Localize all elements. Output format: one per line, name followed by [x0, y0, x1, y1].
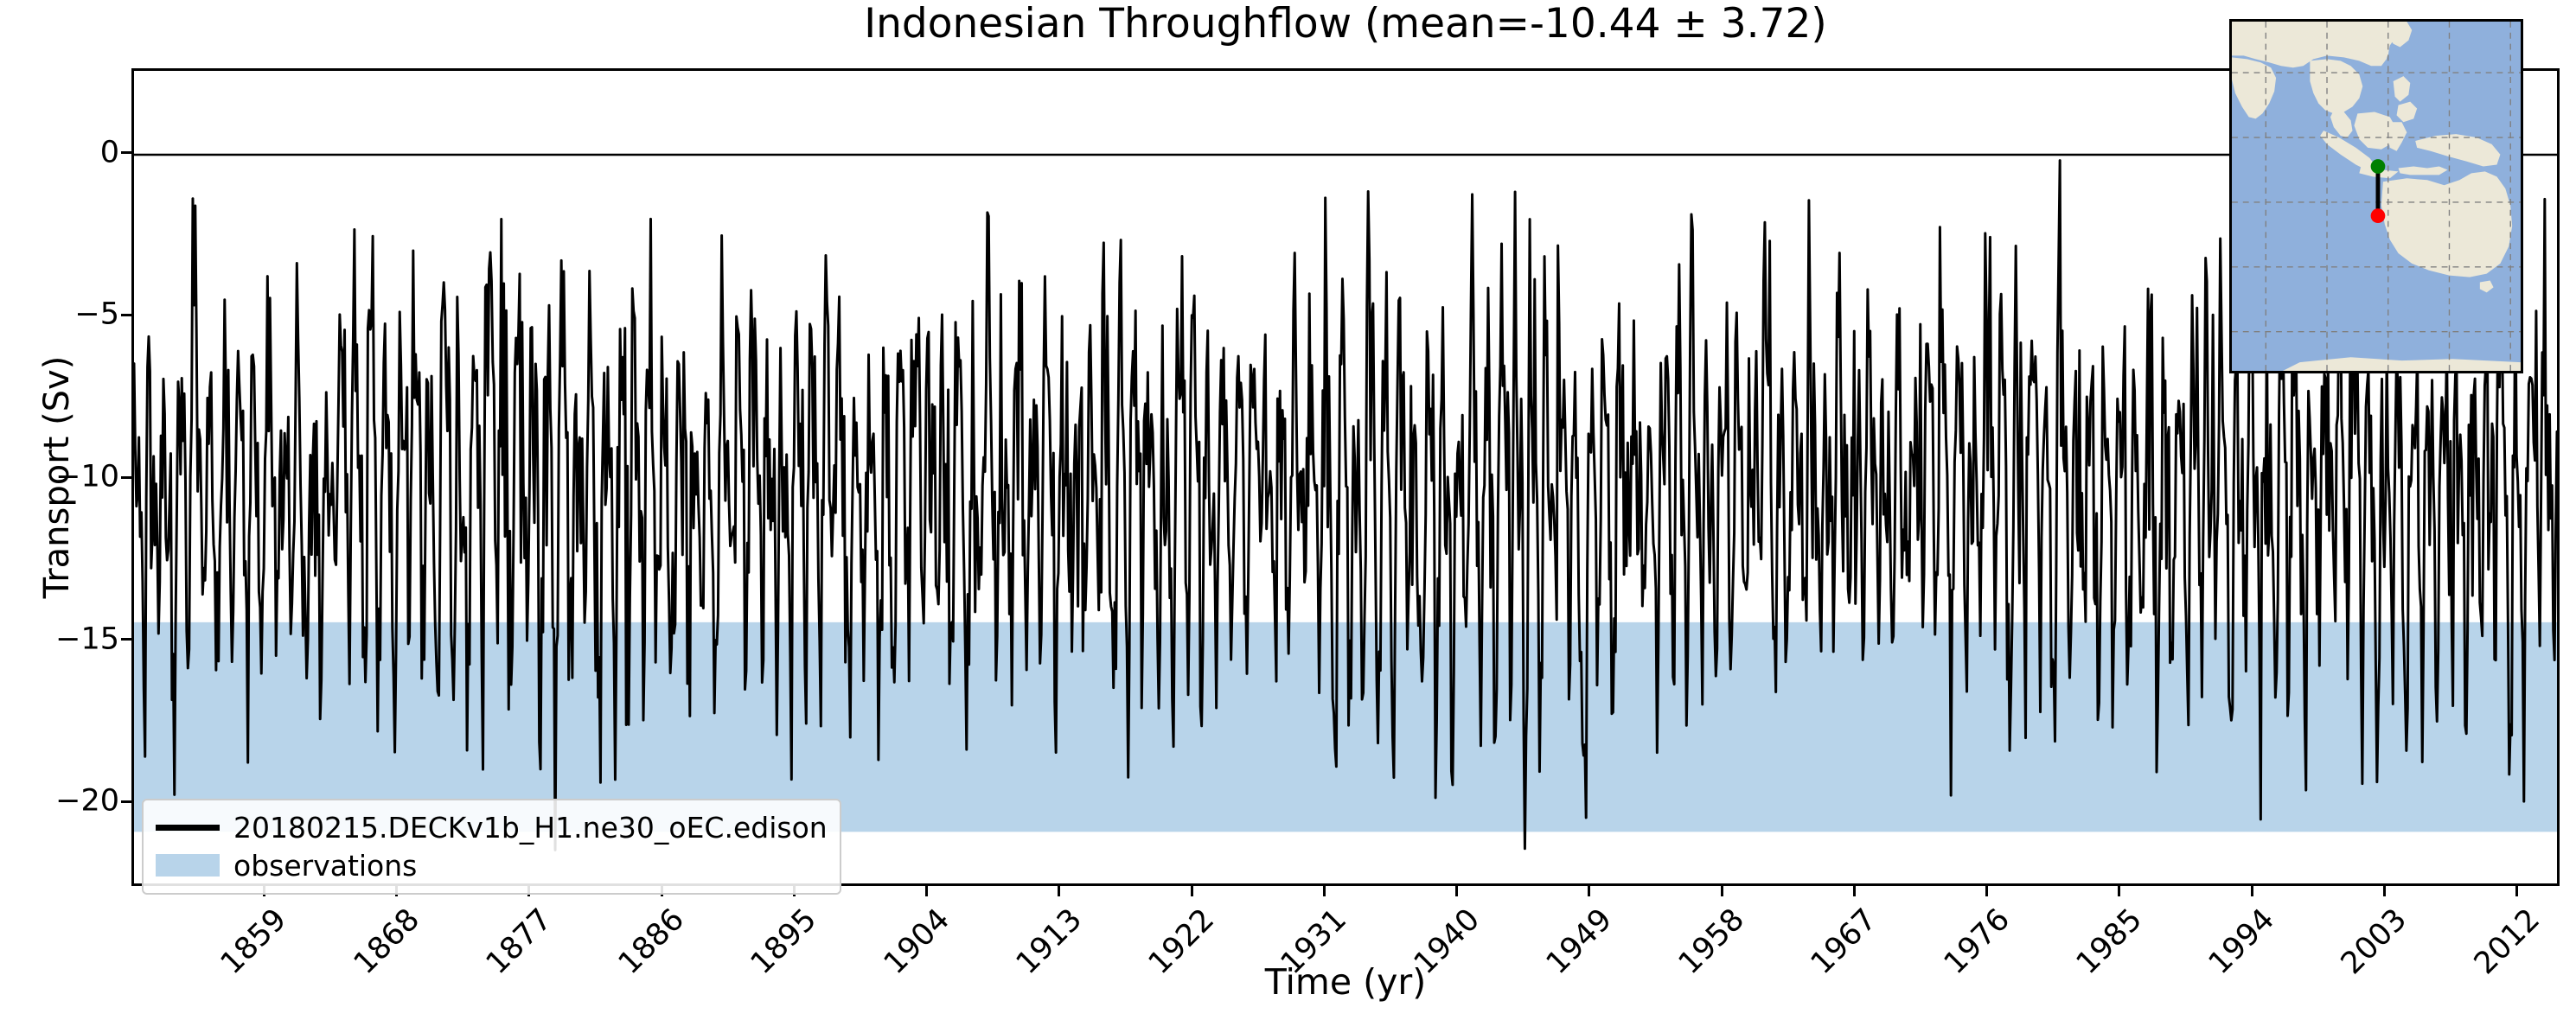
page-title: Indonesian Throughflow (mean=-10.44 ± 3.…: [131, 3, 2560, 44]
y-tick-mark: [121, 800, 131, 803]
plot-canvas: [134, 71, 2557, 883]
y-tick-mark: [121, 638, 131, 641]
legend-item-model[interactable]: 20180215.DECKv1b_H1.ne30_oEC.edison: [156, 808, 828, 846]
x-tick-mark: [1455, 886, 1458, 896]
land-lesser-sunda: [2399, 167, 2448, 175]
plot-area[interactable]: [131, 68, 2560, 886]
x-tick-mark: [2383, 886, 2386, 896]
x-tick-mark: [1191, 886, 1193, 896]
x-tick-mark: [1721, 886, 1723, 896]
y-tick-label: −10: [55, 462, 119, 493]
legend-item-observations[interactable]: observations: [156, 846, 828, 884]
x-tick-mark: [1985, 886, 1988, 896]
transect-start-marker: [2371, 159, 2386, 174]
x-tick-mark: [925, 886, 928, 896]
x-axis-label: Time (yr): [131, 961, 2560, 1003]
x-tick-mark: [1853, 886, 1856, 896]
legend-band-swatch-icon: [156, 854, 220, 877]
legend-label-model: 20180215.DECKv1b_H1.ne30_oEC.edison: [233, 813, 828, 842]
y-tick-label: 0: [100, 137, 119, 168]
x-tick-mark: [2251, 886, 2253, 896]
x-tick-mark: [1588, 886, 1590, 896]
inset-map[interactable]: [2229, 19, 2523, 373]
y-tick-label: −20: [55, 787, 119, 817]
x-tick-mark: [2515, 886, 2518, 896]
x-tick-mark: [2118, 886, 2120, 896]
transect-end-marker: [2371, 208, 2386, 223]
y-tick-mark: [121, 314, 131, 316]
legend-line-swatch-icon: [156, 814, 220, 840]
x-tick-mark: [1058, 886, 1060, 896]
y-tick-mark: [121, 476, 131, 479]
legend-label-observations: observations: [233, 851, 417, 880]
x-tick-mark: [1323, 886, 1326, 896]
y-tick-label: −5: [74, 300, 119, 330]
figure: Indonesian Throughflow (mean=-10.44 ± 3.…: [0, 0, 2576, 1020]
inset-map-canvas: [2232, 22, 2521, 371]
y-tick-mark: [121, 151, 131, 154]
y-tick-label: −15: [55, 624, 119, 654]
legend[interactable]: 20180215.DECKv1b_H1.ne30_oEC.edison obse…: [142, 799, 841, 895]
